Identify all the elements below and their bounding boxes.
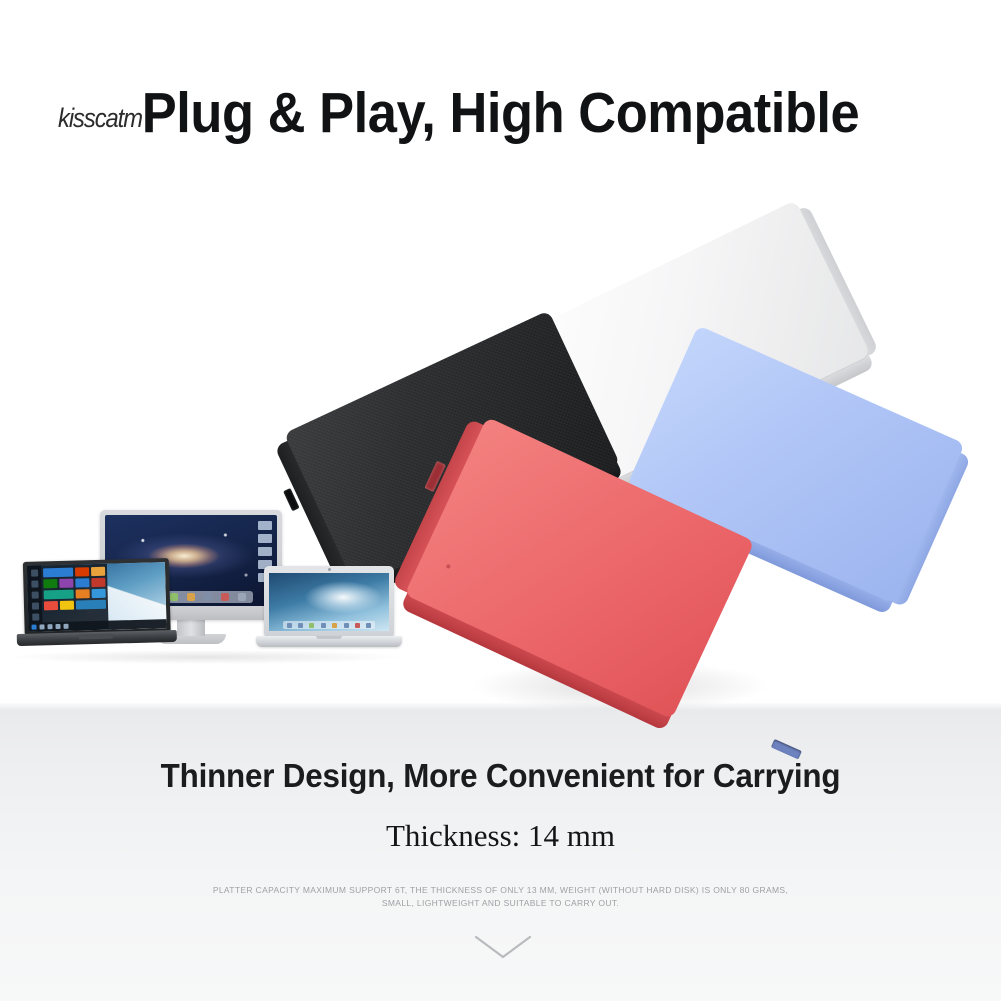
thickness-spec: Thickness: 14 mm xyxy=(0,818,1001,854)
webcam-icon xyxy=(328,568,331,571)
fine-print: PLATTER CAPACITY MAXIMUM SUPPORT 6T, THE… xyxy=(0,884,1001,910)
seller-watermark: kisscatm xyxy=(58,103,142,134)
laptop-screen xyxy=(27,562,167,632)
device-windows-laptop xyxy=(15,558,177,654)
chevron-down-icon xyxy=(472,932,534,962)
start-menu-tiles xyxy=(43,567,106,622)
imac-stand-neck xyxy=(177,620,205,636)
tagline: Thinner Design, More Convenient for Carr… xyxy=(25,757,976,795)
led-indicator-icon xyxy=(446,564,451,569)
background-seam xyxy=(0,702,1001,710)
device-macbook-air xyxy=(256,566,402,656)
fine-print-line-1: PLATTER CAPACITY MAXIMUM SUPPORT 6T, THE… xyxy=(0,884,1001,897)
laptop-trackpad xyxy=(79,634,113,640)
macbook-lid xyxy=(264,566,394,638)
fine-print-line-2: SMALL, LIGHTWEIGHT AND SUITABLE TO CARRY… xyxy=(0,897,1001,910)
laptop-lid xyxy=(23,558,171,636)
macos-dock xyxy=(283,621,374,629)
product-image-canvas: Plug & Play, High Compatible kisscatm xyxy=(0,0,1001,1001)
page-title: Plug & Play, High Compatible xyxy=(40,85,961,142)
macbook-screen xyxy=(269,573,389,631)
macbook-notch xyxy=(316,636,342,639)
compatible-devices-cluster xyxy=(8,498,410,668)
